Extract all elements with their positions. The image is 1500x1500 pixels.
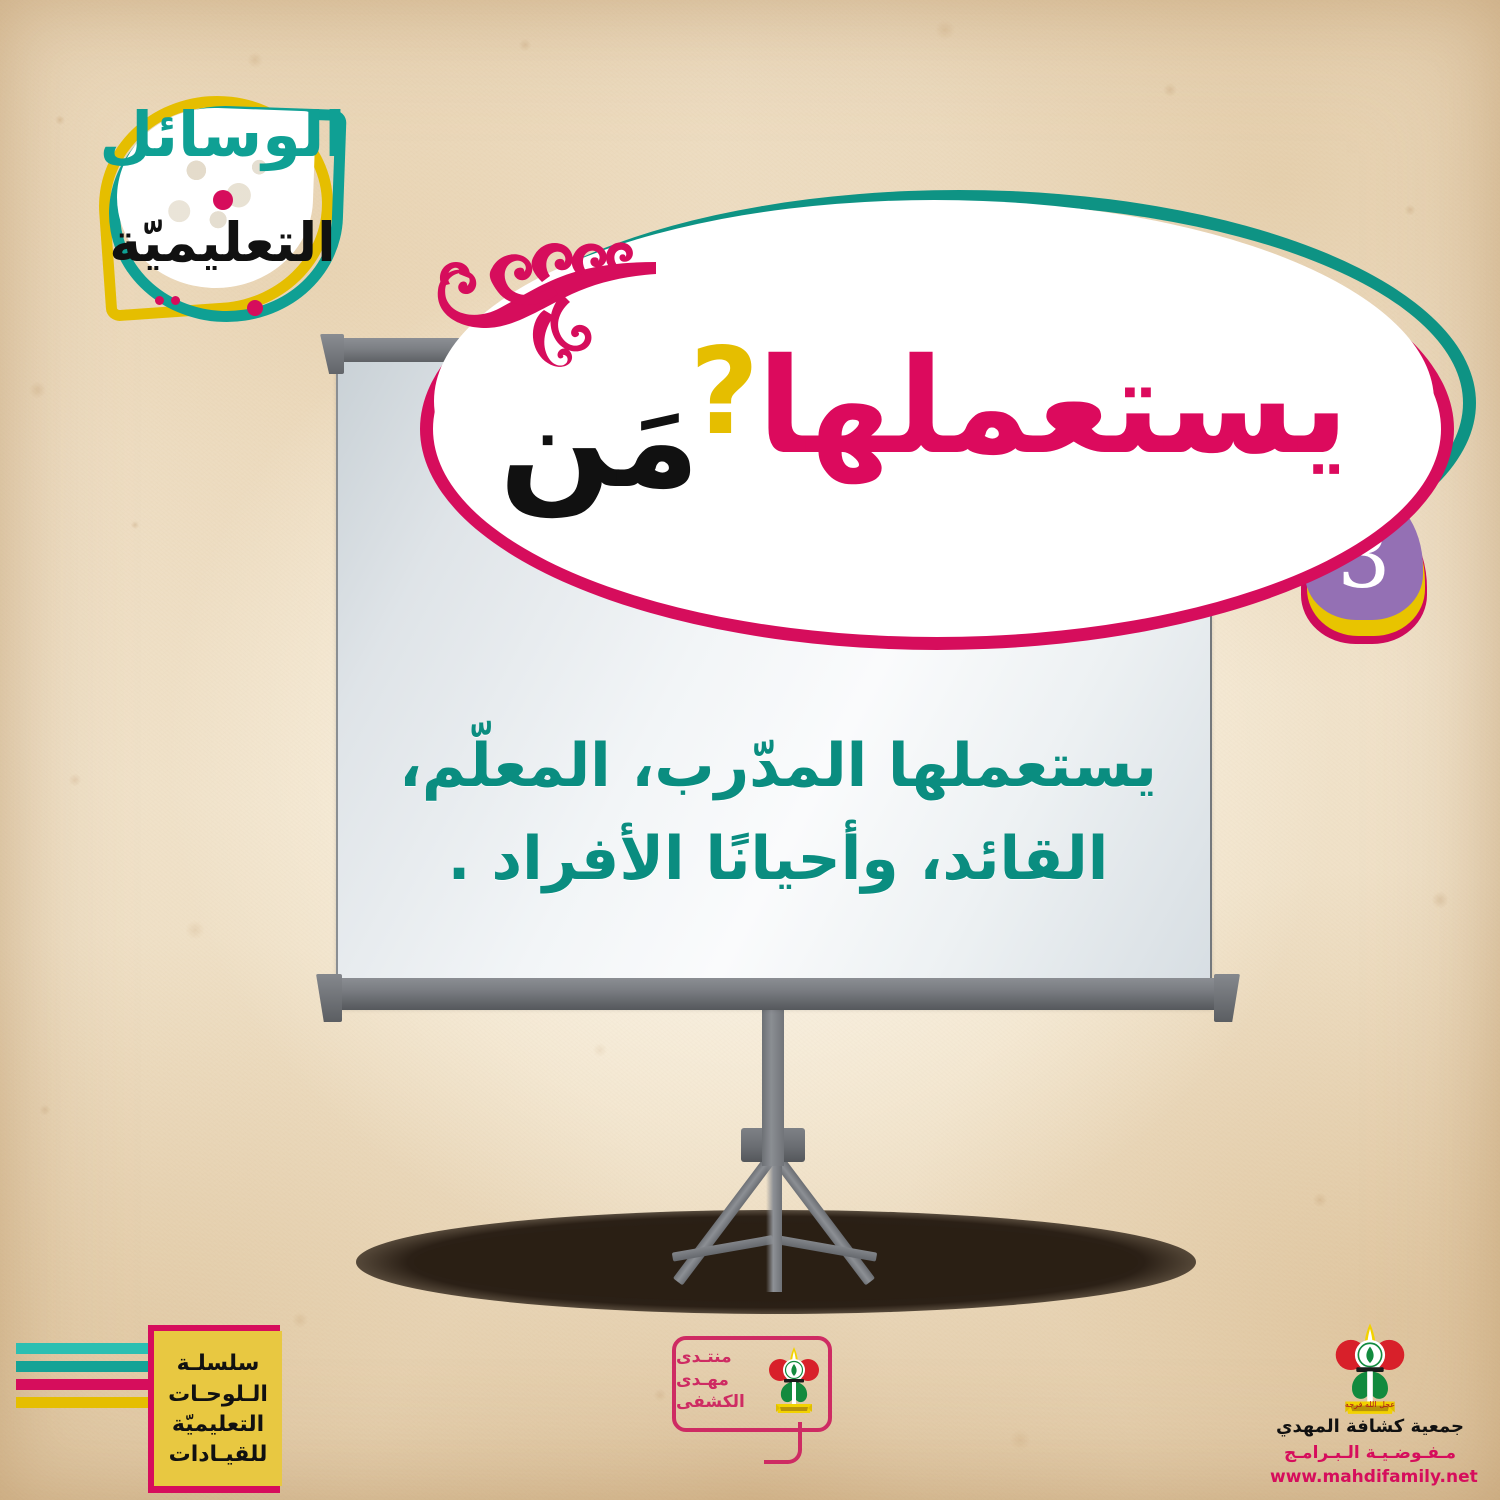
brand-logo: الوسائل التعليميّة xyxy=(95,78,350,313)
forum-line-3: الكشفى xyxy=(676,1391,745,1413)
screen-bottom-cap-left xyxy=(316,974,342,1022)
title-word-primary: يستعملها xyxy=(757,341,1348,473)
association-tagline: عجل الله فرجه xyxy=(1270,1400,1470,1409)
association-logo[interactable]: عجل الله فرجه جمعية كشافة المهدي مـفـوضـ… xyxy=(1270,1322,1470,1492)
forum-line-2: مهـدى xyxy=(676,1369,729,1391)
forum-logo-text: منتـدى مهـدى الكشفى xyxy=(676,1342,768,1418)
screen-support-pole xyxy=(762,1006,784,1166)
title-bubble: 3 يستعملها ؟ مَن xyxy=(420,190,1450,640)
association-department: مـفـوضـيـة الـبـرامـج xyxy=(1270,1442,1470,1464)
screen-body-text: يستعملها المدّرب، المعلّم، القائد، وأحيا… xyxy=(398,720,1158,906)
brand-logo-line-1: الوسائل xyxy=(95,104,350,166)
logo-accent-dot-1 xyxy=(213,190,233,210)
series-line-2: الـلوحـات xyxy=(168,1380,268,1410)
logo-accent-dot-2 xyxy=(247,300,263,316)
series-badge-text: سلسلـة الـلوحـات التعليميّة للقيـادات xyxy=(154,1335,282,1485)
stripe-teal-light xyxy=(16,1343,156,1354)
question-mark-icon: ؟ xyxy=(690,333,760,453)
speech-bubble-tail xyxy=(764,1422,802,1464)
poster-canvas: يستعملها المدّرب، المعلّم، القائد، وأحيا… xyxy=(0,0,1500,1500)
series-line-3: التعليميّة xyxy=(172,1410,264,1440)
association-name: جمعية كشافة المهدي xyxy=(1270,1416,1470,1439)
flourish-ornament xyxy=(430,228,660,373)
stripe-yellow xyxy=(16,1397,156,1408)
association-website[interactable]: www.mahdifamily.net xyxy=(1270,1466,1470,1488)
forum-line-1: منتـدى xyxy=(676,1346,732,1368)
series-line-4: للقيـادات xyxy=(169,1440,268,1470)
association-text-block: جمعية كشافة المهدي مـفـوضـيـة الـبـرامـج… xyxy=(1270,1416,1470,1488)
forum-logo[interactable]: منتـدى مهـدى الكشفى xyxy=(672,1336,838,1484)
screen-body-line-1: يستعملها المدّرب، المعلّم، xyxy=(398,720,1158,813)
series-badge: سلسلـة الـلوحـات التعليميّة للقيـادات xyxy=(8,1325,308,1493)
tripod-center-post xyxy=(766,1150,782,1292)
screen-bottom-rail xyxy=(332,978,1222,1010)
scout-fleur-de-lis-icon xyxy=(768,1346,820,1416)
stripe-teal xyxy=(16,1361,156,1372)
brand-logo-line-2: التعليميّة xyxy=(95,216,350,270)
title-word-secondary: مَن xyxy=(499,375,700,507)
logo-accent-dot-3 xyxy=(155,296,164,305)
flourish-swirls-icon xyxy=(430,228,660,373)
screen-top-cap-left xyxy=(320,334,344,374)
screen-body-line-2: القائد، وأحيانًا الأفراد . xyxy=(398,813,1158,906)
series-stripes xyxy=(16,1343,156,1415)
logo-accent-dot-4 xyxy=(171,296,180,305)
series-line-1: سلسلـة xyxy=(177,1349,260,1379)
stripe-pink xyxy=(16,1379,156,1390)
